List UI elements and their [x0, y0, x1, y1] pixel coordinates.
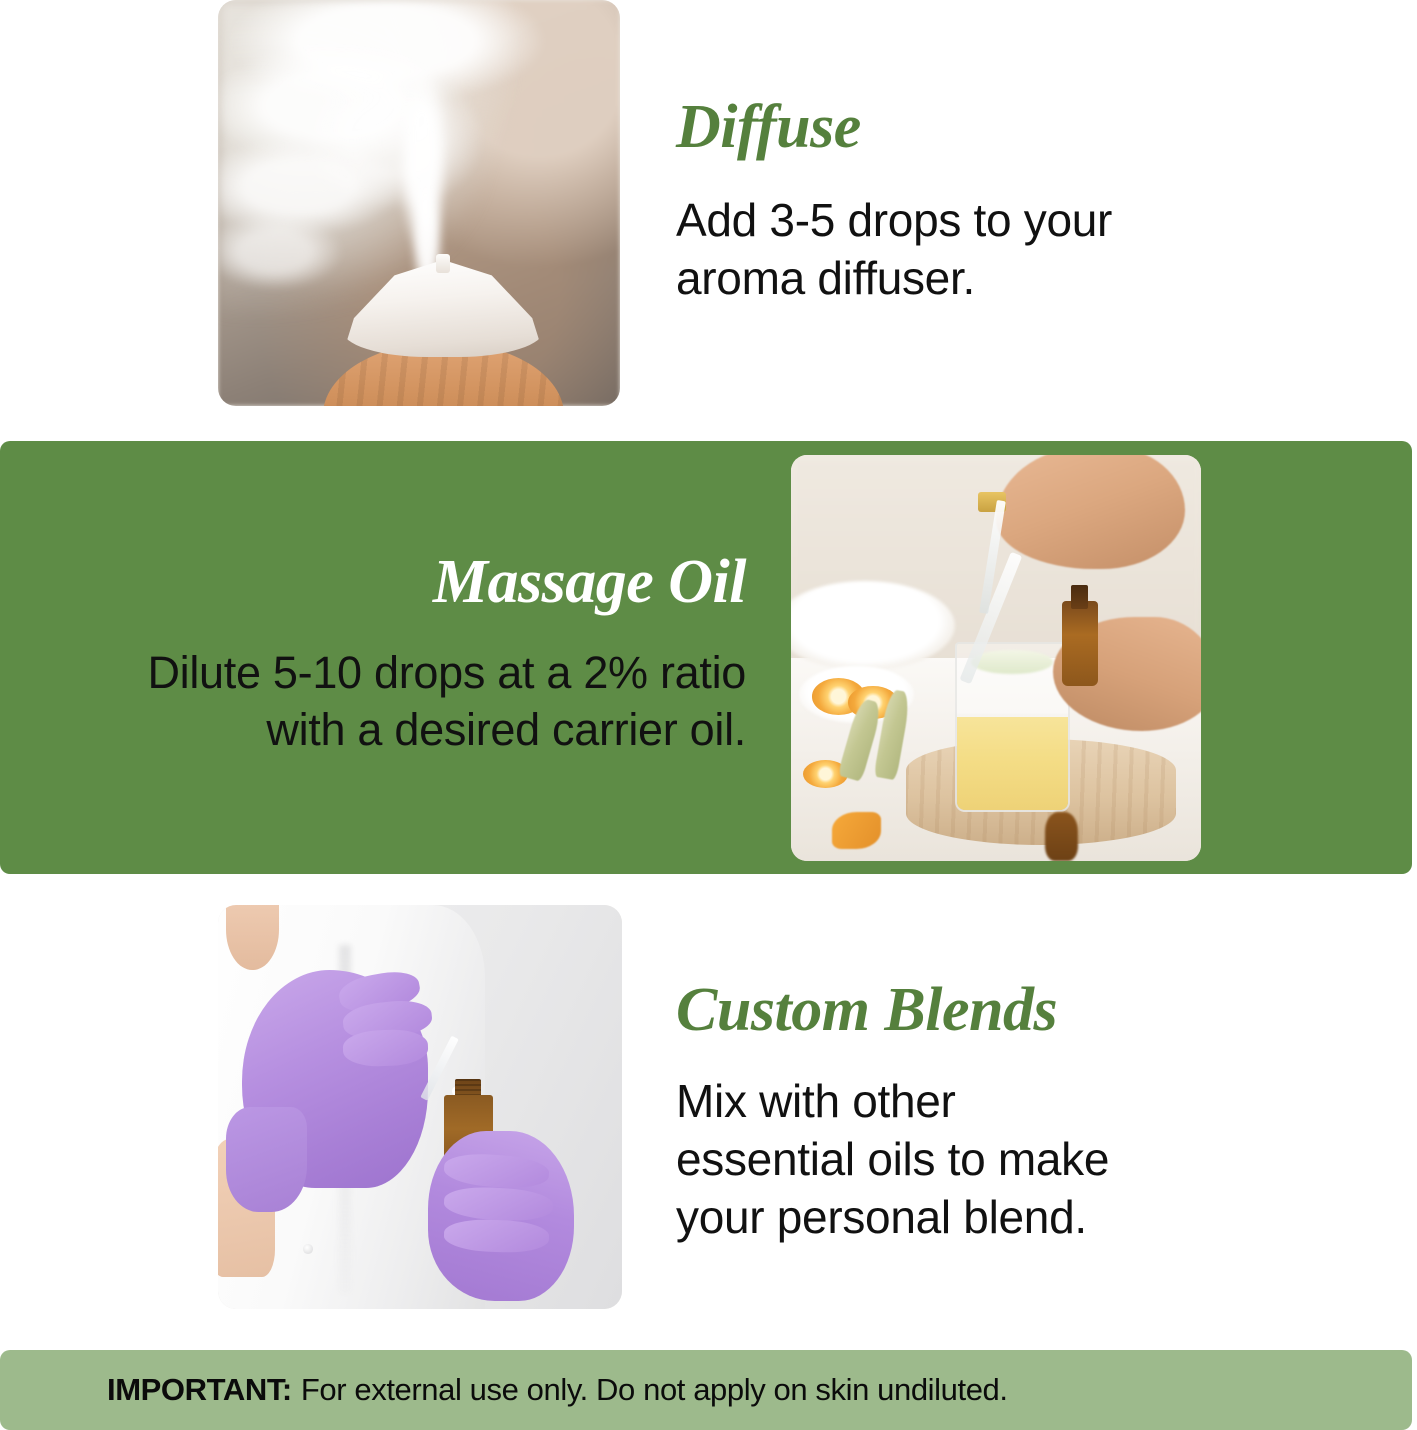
- diffuse-body-line-2: aroma diffuser.: [676, 250, 1276, 308]
- section-custom-blends: Custom Blends Mix with other essential o…: [0, 874, 1417, 1350]
- massage-oil-text-block: Massage Oil Dilute 5-10 drops at a 2% ra…: [40, 551, 746, 758]
- orange-peel: [832, 812, 881, 849]
- diffuser-device: [323, 260, 564, 406]
- massage-oil-photo: [791, 455, 1201, 861]
- diffuser-white-cap: [342, 260, 545, 357]
- diffuse-text-block: Diffuse Add 3-5 drops to your aroma diff…: [676, 96, 1276, 308]
- product-usage-infographic: Diffuse Add 3-5 drops to your aroma diff…: [0, 0, 1417, 1430]
- amber-oil-bottle: [1062, 601, 1099, 686]
- hand-holding-dropper: [996, 455, 1185, 569]
- massage-oil-body-line-1: Dilute 5-10 drops at a 2% ratio: [40, 645, 746, 702]
- custom-blends-body-line-1: Mix with other: [676, 1073, 1296, 1131]
- diffuse-body: Add 3-5 drops to your aroma diffuser.: [676, 192, 1276, 308]
- diffuse-body-line-1: Add 3-5 drops to your: [676, 192, 1276, 250]
- amber-bottle-foreground: [1045, 812, 1078, 861]
- section-massage-oil: Massage Oil Dilute 5-10 drops at a 2% ra…: [0, 441, 1412, 874]
- custom-blends-body: Mix with other essential oils to make yo…: [676, 1073, 1296, 1247]
- diffuser-photo: [218, 0, 620, 406]
- custom-blends-photo: [218, 905, 622, 1309]
- glove-left-cuff: [226, 1107, 307, 1212]
- important-notice-content: IMPORTANT: For external use only. Do not…: [107, 1350, 1412, 1430]
- important-label: IMPORTANT:: [107, 1372, 292, 1408]
- important-text: For external use only. Do not apply on s…: [301, 1372, 1008, 1408]
- diffuser-nozzle: [436, 254, 450, 273]
- massage-oil-body-line-2: with a desired carrier oil.: [40, 702, 746, 759]
- custom-blends-text-block: Custom Blends Mix with other essential o…: [676, 979, 1296, 1247]
- massage-oil-heading: Massage Oil: [40, 551, 746, 613]
- golden-liquid: [957, 717, 1068, 810]
- diffuse-heading: Diffuse: [676, 96, 1276, 158]
- custom-blends-body-line-3: your personal blend.: [676, 1189, 1296, 1247]
- important-notice-bar: IMPORTANT: For external use only. Do not…: [0, 1350, 1412, 1430]
- coat-button: [303, 1244, 313, 1254]
- custom-blends-heading: Custom Blends: [676, 979, 1296, 1041]
- custom-blends-body-line-2: essential oils to make: [676, 1131, 1296, 1189]
- massage-oil-body: Dilute 5-10 drops at a 2% ratio with a d…: [40, 645, 746, 758]
- amber-bottle-neck: [1071, 585, 1087, 609]
- section-diffuse: Diffuse Add 3-5 drops to your aroma diff…: [0, 0, 1417, 441]
